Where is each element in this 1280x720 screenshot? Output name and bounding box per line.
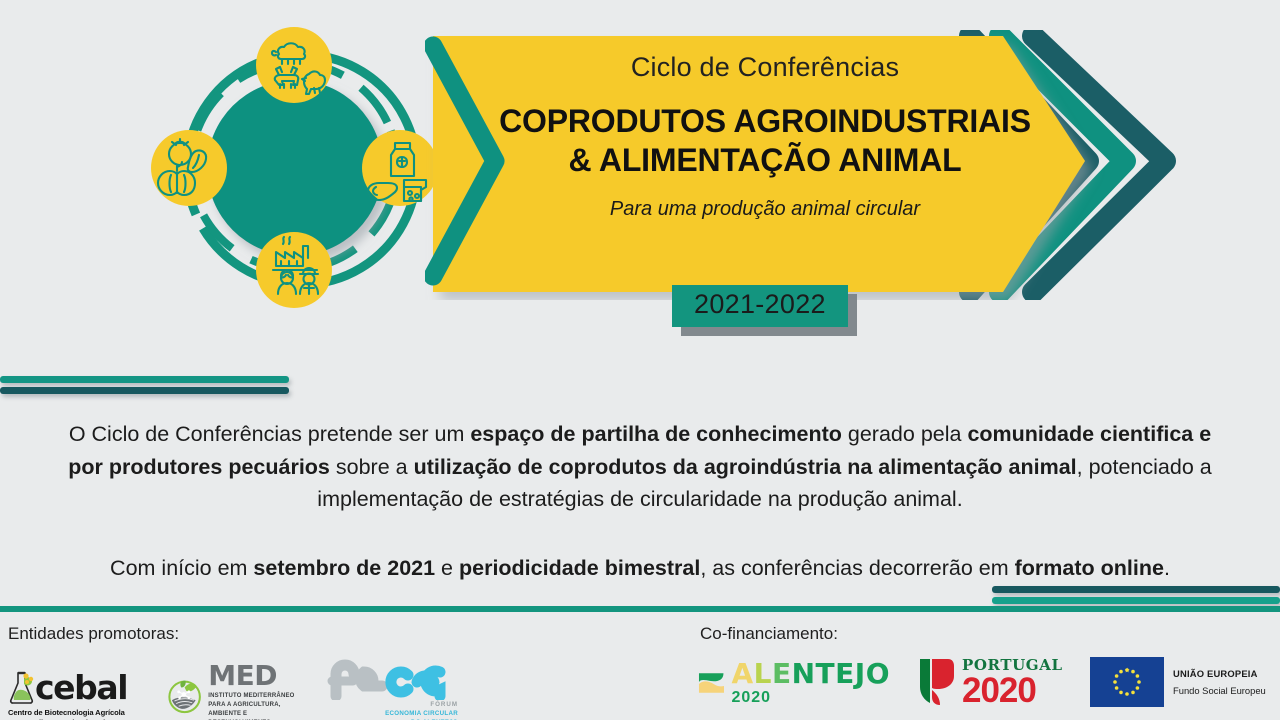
banner-text-block: Ciclo de Conferências COPRODUTOS AGROIND… — [485, 52, 1045, 221]
european-union-logo: UNIÃO EUROPEIA Fundo Social Europeu — [1090, 657, 1280, 707]
industry-people-icon — [256, 232, 332, 308]
poster-canvas: Ciclo de Conferências COPRODUTOS AGROIND… — [0, 0, 1280, 720]
alentejo-mark-icon — [698, 659, 724, 707]
banner-title: COPRODUTOS AGROINDUSTRIAIS & ALIMENTAÇÃO… — [485, 102, 1045, 180]
cofinancer-logos: ALENTEJO 2020 PORTUGAL 2020 — [698, 656, 1280, 707]
year-badge: 2021-2022 — [672, 285, 848, 327]
med-emblem-icon — [166, 674, 203, 718]
title-banner: Ciclo de Conferências COPRODUTOS AGROIND… — [425, 30, 1185, 300]
eu-subtitle: Fundo Social Europeu — [1173, 685, 1266, 696]
portugal-year: 2020 — [962, 674, 1036, 707]
left-rule-top — [0, 376, 289, 383]
alentejo-year: 2020 — [731, 689, 890, 707]
med-tagline-line1: INSTITUTO MEDITERRÂNEO — [208, 692, 296, 701]
med-tagline-line3: AMBIENTE E DESENVOLVIMENTO — [208, 710, 296, 720]
livestock-icon — [256, 27, 332, 103]
flask-icon — [8, 670, 35, 706]
eu-title: UNIÃO EUROPEIA — [1173, 668, 1266, 679]
cebal-tagline-line1: Centro de Biotecnologia Agrícola — [8, 708, 144, 718]
banner-subtitle: Para uma produção animal circular — [485, 198, 1045, 221]
feca-tagline: FÓRUM ECONOMIA CIRCULAR DO ALENTEJO — [385, 701, 458, 720]
feca-tagline-line2: ECONOMIA CIRCULAR — [385, 710, 458, 719]
alentejo-wordmark: ALENTEJO — [731, 660, 890, 688]
right-rule-bottom — [992, 597, 1280, 604]
footer: Entidades promotoras: Co-financiamento: … — [0, 612, 1280, 720]
cofinancing-label: Co-financiamento: — [700, 624, 838, 644]
cebal-tagline: Centro de Biotecnologia Agrícola e Agro-… — [8, 708, 144, 720]
center-disc — [207, 80, 383, 256]
med-tagline-line2: PARA A AGRICULTURA, — [208, 701, 296, 710]
feca-wordmark-icon — [322, 656, 458, 700]
paragraph-2: Com início em setembro de 2021 e periodi… — [58, 552, 1222, 585]
banner-title-line1: COPRODUTOS AGROINDUSTRIAIS — [485, 102, 1045, 141]
med-wordmark: MED — [208, 663, 296, 690]
left-rule-bottom — [0, 387, 289, 394]
promoters-label: Entidades promotoras: — [8, 624, 179, 644]
banner-kicker: Ciclo de Conferências — [485, 52, 1045, 83]
banner-title-line2: & ALIMENTAÇÃO ANIMAL — [485, 141, 1045, 180]
promoter-logos: cebal Centro de Biotecnologia Agrícola e… — [8, 656, 458, 720]
right-rule-top — [992, 586, 1280, 593]
portugal-shield-icon — [916, 657, 956, 707]
body-copy: O Ciclo de Conferências pretende ser um … — [58, 418, 1222, 585]
feca-tagline-line1: FÓRUM — [385, 701, 458, 710]
feca-logo: FÓRUM ECONOMIA CIRCULAR DO ALENTEJO — [318, 656, 458, 720]
cebal-logo: cebal Centro de Biotecnologia Agrícola e… — [8, 670, 144, 720]
portugal-2020-logo: PORTUGAL 2020 — [916, 656, 1064, 707]
eu-flag-icon — [1090, 657, 1164, 707]
alentejo-2020-logo: ALENTEJO 2020 — [698, 659, 890, 707]
med-tagline: INSTITUTO MEDITERRÂNEO PARA A AGRICULTUR… — [208, 692, 296, 720]
paragraph-1: O Ciclo de Conferências pretende ser um … — [58, 418, 1222, 516]
vegetables-icon — [151, 130, 227, 206]
med-logo: MED INSTITUTO MEDITERRÂNEO PARA A AGRICU… — [166, 663, 296, 720]
circular-economy-graphic — [148, 18, 448, 314]
cebal-wordmark: cebal — [35, 671, 127, 704]
